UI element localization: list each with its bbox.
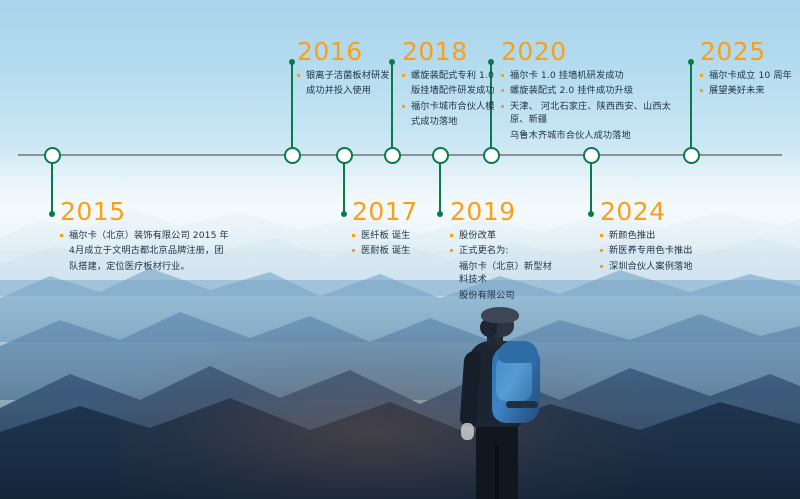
event-bullets-2015: 福尔卡（北京）装饰有限公司 2015 年 4月成立于文明古都北京品牌注册，团 队… xyxy=(60,229,240,273)
warm-light-glow xyxy=(120,330,680,499)
node-dot-2019[interactable] xyxy=(432,147,449,164)
hiker-hand xyxy=(461,423,474,440)
event-year-2016: 2016 xyxy=(297,38,397,65)
bullet-item: 乌鲁木齐城市合伙人成功落地 xyxy=(501,129,683,142)
bullet-item: 成功并投入使用 xyxy=(297,84,397,97)
backpack-lid xyxy=(498,341,538,363)
bullet-item: 新颜色推出 xyxy=(600,229,720,242)
event-bullets-2018: 螺旋装配式专利 1.0 版挂墙配件研发成功 福尔卡城市合伙人模 式成功落地 xyxy=(402,69,500,129)
bullet-item: 式成功落地 xyxy=(402,115,500,128)
bullet-item: 银离子洁菌板材研发 xyxy=(297,69,397,82)
hiker-figure xyxy=(440,305,570,499)
event-year-2020: 2020 xyxy=(501,38,683,65)
bullet-item: 4月成立于文明古都北京品牌注册，团 xyxy=(60,244,240,257)
event-block-2020: 2020 福尔卡 1.0 挂墙机研发成功 螺旋装配式 2.0 挂件成功升级 天津… xyxy=(501,38,683,144)
bullet-item: 队搭建，定位医疗板材行业。 xyxy=(60,260,240,273)
bullet-item: 福尔卡（北京）装饰有限公司 2015 年 xyxy=(60,229,240,242)
bullet-item: 新医养专用色卡推出 xyxy=(600,244,720,257)
event-year-2018: 2018 xyxy=(402,38,500,65)
backpack-strap-waist xyxy=(506,401,538,408)
bullet-item: 天津、 河北石家庄、陕西西安、山西太原、新疆 xyxy=(501,100,683,127)
event-year-2025: 2025 xyxy=(700,38,798,65)
bullet-item: 版挂墙配件研发成功 xyxy=(402,84,500,97)
node-dot-2017[interactable] xyxy=(336,147,353,164)
event-year-2015: 2015 xyxy=(60,198,240,225)
timeline-infographic: 2015 福尔卡（北京）装饰有限公司 2015 年 4月成立于文明古都北京品牌注… xyxy=(0,0,800,499)
bullet-item: 正式更名为: xyxy=(450,244,560,257)
node-endcap-2024 xyxy=(588,211,594,217)
node-stem-2024 xyxy=(590,160,592,214)
event-year-2017: 2017 xyxy=(352,198,442,225)
bullet-item: 医纤板 诞生 xyxy=(352,229,442,242)
event-block-2019: 2019 股份改革 正式更名为: 福尔卡（北京）新型材料技术 股份有限公司 xyxy=(450,198,560,304)
node-stem-2016 xyxy=(291,62,293,156)
event-year-2024: 2024 xyxy=(600,198,720,225)
event-bullets-2025: 福尔卡成立 10 周年 展望美好未来 xyxy=(700,69,798,98)
node-endcap-2025 xyxy=(688,59,694,65)
event-block-2024: 2024 新颜色推出 新医养专用色卡推出 深圳合伙人案例落地 xyxy=(600,198,720,275)
event-bullets-2020: 福尔卡 1.0 挂墙机研发成功 螺旋装配式 2.0 挂件成功升级 天津、 河北石… xyxy=(501,69,683,142)
node-dot-2020[interactable] xyxy=(483,147,500,164)
bullet-item: 展望美好未来 xyxy=(700,84,798,97)
event-bullets-2019: 股份改革 正式更名为: 福尔卡（北京）新型材料技术 股份有限公司 xyxy=(450,229,560,302)
node-dot-2015[interactable] xyxy=(44,147,61,164)
node-stem-2017 xyxy=(343,160,345,214)
event-bullets-2017: 医纤板 诞生 医耐板 诞生 xyxy=(352,229,442,258)
event-block-2018: 2018 螺旋装配式专利 1.0 版挂墙配件研发成功 福尔卡城市合伙人模 式成功… xyxy=(402,38,500,131)
node-endcap-2017 xyxy=(341,211,347,217)
bullet-item: 福尔卡 1.0 挂墙机研发成功 xyxy=(501,69,683,82)
bullet-item: 福尔卡城市合伙人模 xyxy=(402,100,500,113)
bullet-item: 福尔卡（北京）新型材料技术 xyxy=(450,260,560,287)
event-block-2017: 2017 医纤板 诞生 医耐板 诞生 xyxy=(352,198,442,260)
node-stem-2025 xyxy=(690,62,692,156)
event-block-2015: 2015 福尔卡（北京）装饰有限公司 2015 年 4月成立于文明古都北京品牌注… xyxy=(60,198,240,275)
node-stem-2015 xyxy=(51,160,53,214)
bullet-item: 螺旋装配式 2.0 挂件成功升级 xyxy=(501,84,683,97)
hiker-hat xyxy=(481,307,519,323)
node-dot-2025[interactable] xyxy=(683,147,700,164)
bullet-item: 福尔卡成立 10 周年 xyxy=(700,69,798,82)
event-bullets-2024: 新颜色推出 新医养专用色卡推出 深圳合伙人案例落地 xyxy=(600,229,720,273)
node-dot-2018[interactable] xyxy=(384,147,401,164)
event-bullets-2016: 银离子洁菌板材研发 成功并投入使用 xyxy=(297,69,397,98)
node-endcap-2015 xyxy=(49,211,55,217)
event-block-2016: 2016 银离子洁菌板材研发 成功并投入使用 xyxy=(297,38,397,100)
node-dot-2016[interactable] xyxy=(284,147,301,164)
bullet-item: 医耐板 诞生 xyxy=(352,244,442,257)
bullet-item: 股份有限公司 xyxy=(450,289,560,302)
node-dot-2024[interactable] xyxy=(583,147,600,164)
node-endcap-2016 xyxy=(289,59,295,65)
bullet-item: 螺旋装配式专利 1.0 xyxy=(402,69,500,82)
bullet-item: 股份改革 xyxy=(450,229,560,242)
bullet-item: 深圳合伙人案例落地 xyxy=(600,260,720,273)
backpack-panel xyxy=(496,357,532,401)
hiker-leg-gap xyxy=(495,445,499,499)
event-block-2025: 2025 福尔卡成立 10 周年 展望美好未来 xyxy=(700,38,798,100)
event-year-2019: 2019 xyxy=(450,198,560,225)
